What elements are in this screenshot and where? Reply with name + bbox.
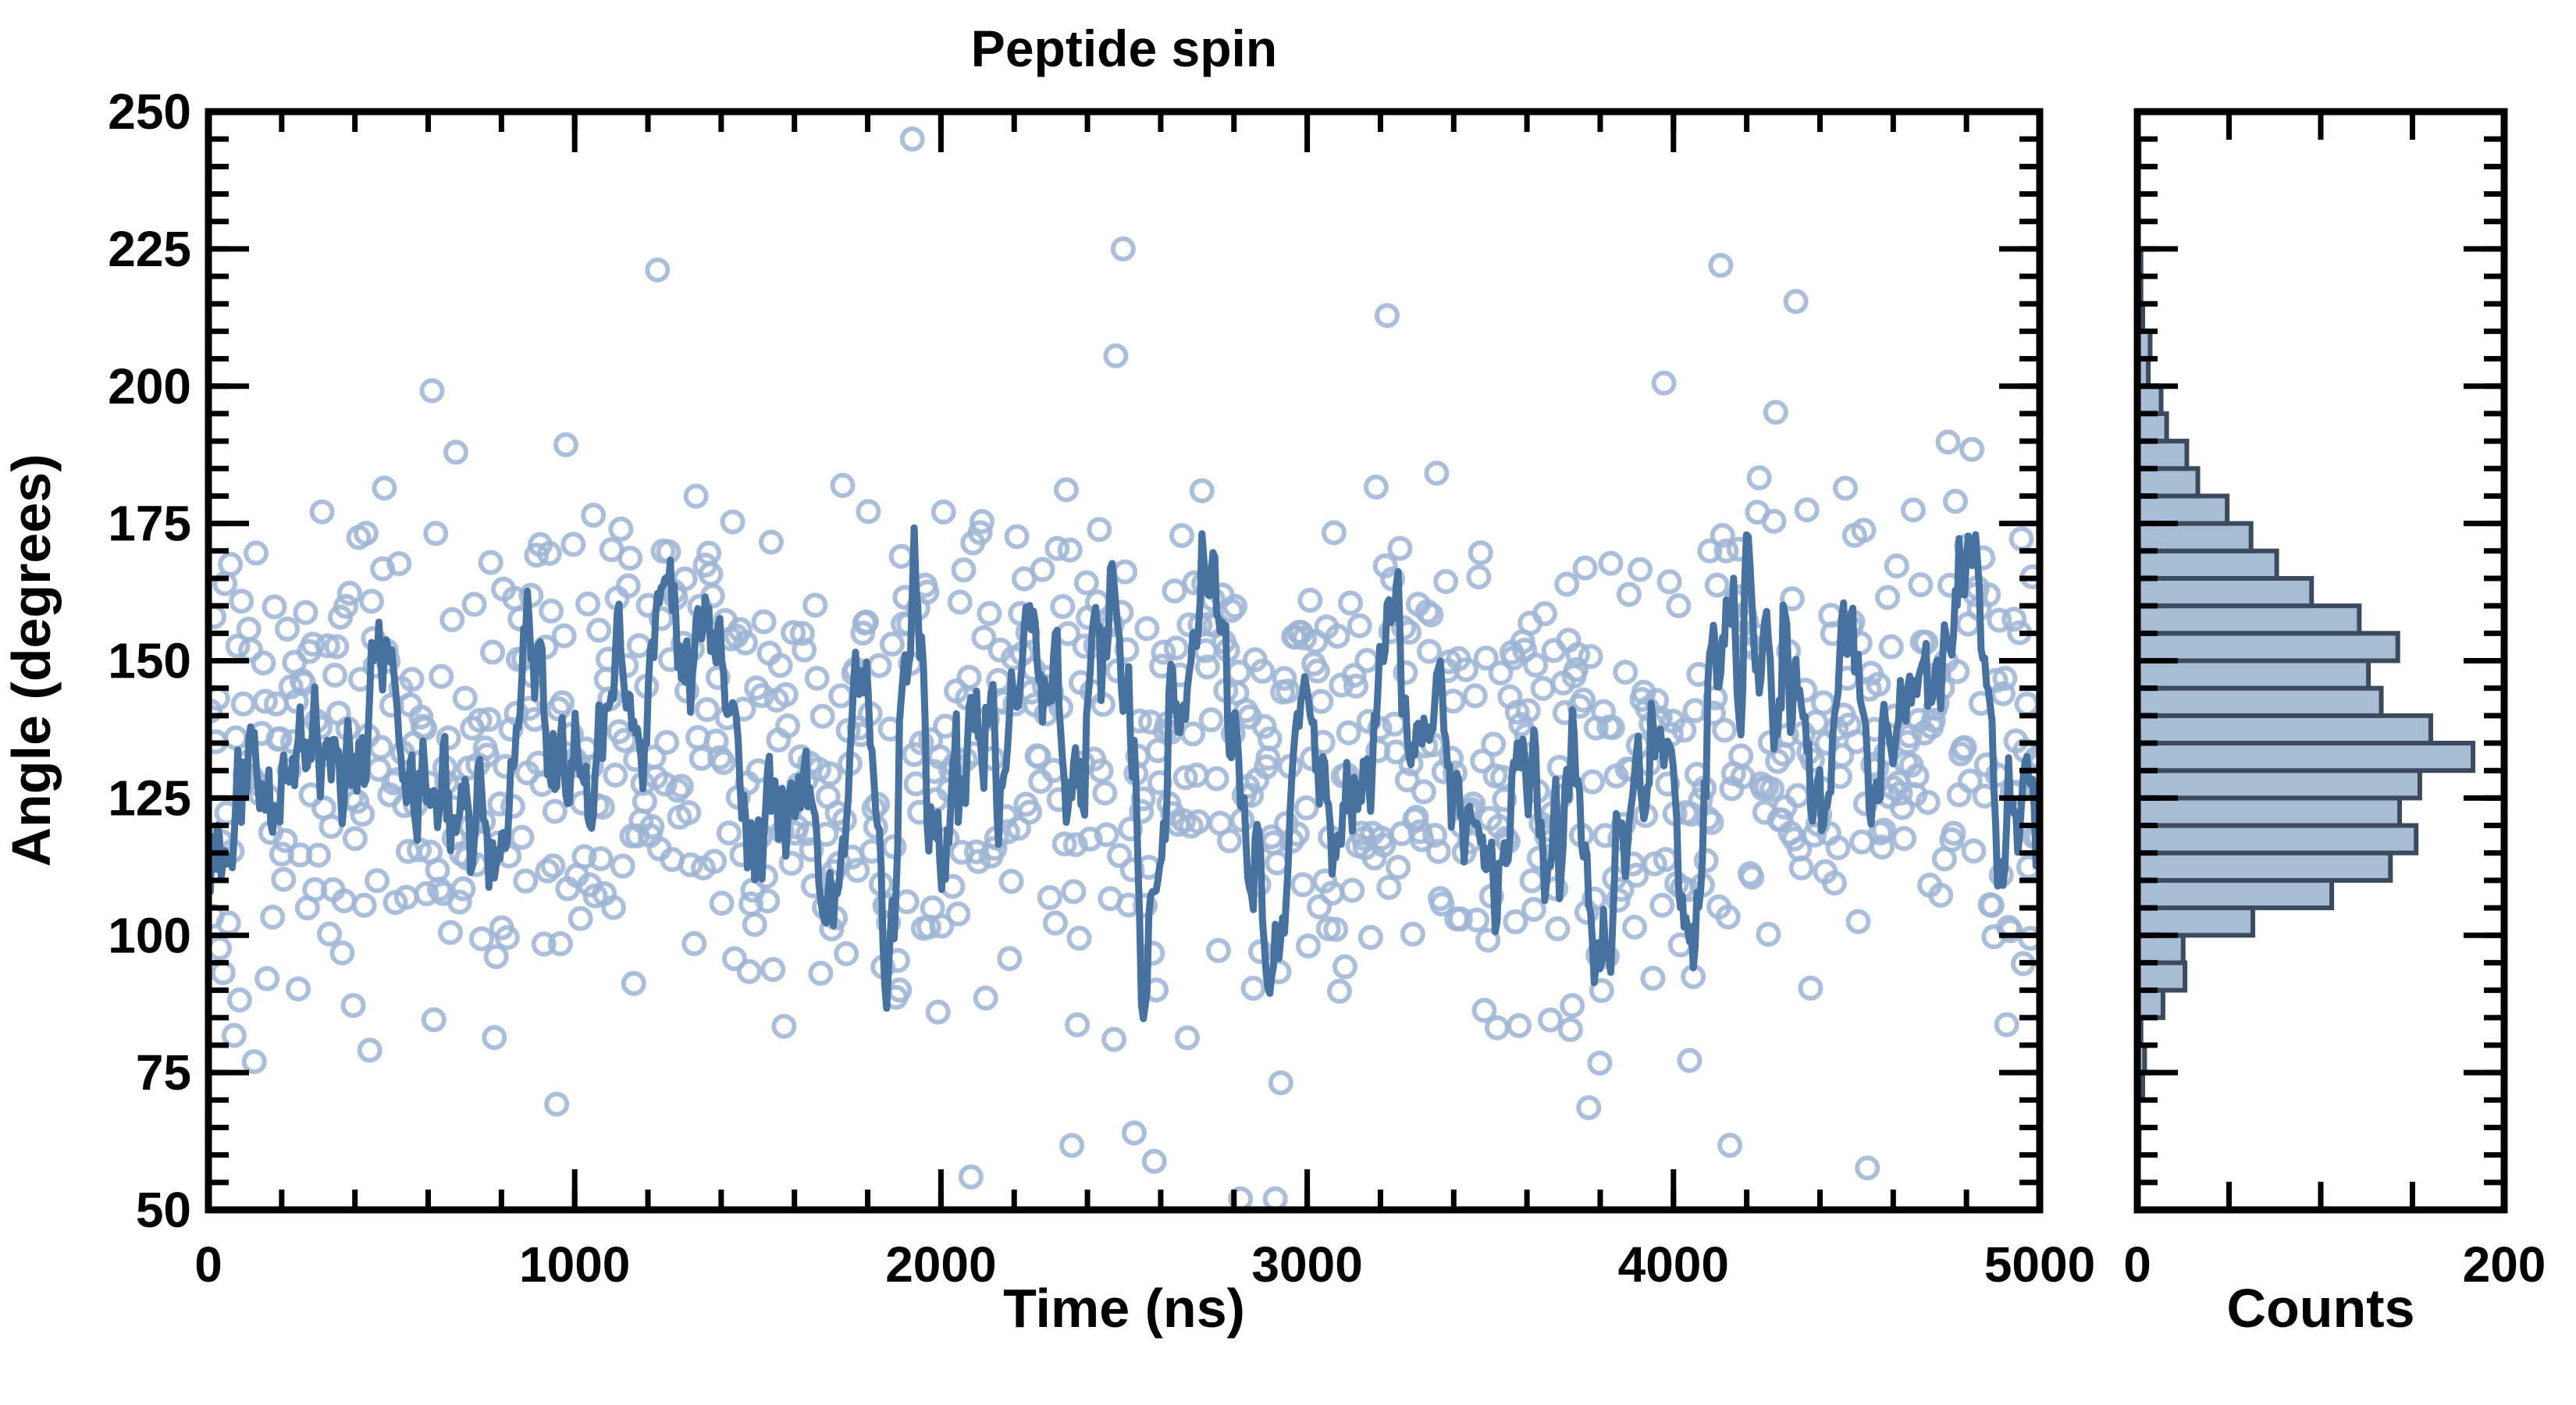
y-axis-title: Angle (degrees) <box>1 454 62 867</box>
histogram-bar <box>2137 661 2368 688</box>
histogram-bar <box>2137 962 2185 990</box>
histogram-bar <box>2137 826 2416 853</box>
histogram-x-axis-title: Counts <box>2226 1278 2414 1339</box>
histogram-bar <box>2137 496 2227 523</box>
x-tick-label: 0 <box>194 1236 222 1293</box>
y-tick-label: 225 <box>108 221 191 277</box>
x-tick-label: 5000 <box>1984 1236 2095 1293</box>
histogram-bar <box>2137 688 2382 716</box>
histogram-x-tick-label: 200 <box>2463 1236 2546 1293</box>
y-tick-label: 250 <box>108 84 191 140</box>
histogram-bar <box>2137 798 2400 825</box>
histogram-x-tick-label: 0 <box>2123 1236 2151 1293</box>
histogram-bar <box>2137 414 2167 441</box>
histogram-bar <box>2137 991 2163 1018</box>
y-tick-label: 75 <box>136 1044 191 1101</box>
y-tick-label: 50 <box>136 1182 191 1238</box>
histogram-bar <box>2137 908 2253 935</box>
y-tick-label: 125 <box>108 770 191 826</box>
histogram-bar <box>2137 578 2311 606</box>
y-tick-label: 150 <box>108 633 191 689</box>
x-tick-label: 3000 <box>1251 1236 1362 1293</box>
y-tick-label: 200 <box>108 358 191 414</box>
y-tick-label: 100 <box>108 907 191 963</box>
histogram-bar <box>2137 770 2420 798</box>
histogram-bar <box>2137 716 2431 743</box>
figure-root: Peptide spin 010002000300040005000 50751… <box>0 0 2576 1405</box>
page-title: Peptide spin <box>971 20 1277 77</box>
histogram-bar <box>2137 633 2398 660</box>
x-tick-label: 4000 <box>1618 1236 1729 1293</box>
histogram-bar <box>2137 606 2359 633</box>
x-axis-title: Time (ns) <box>1003 1278 1245 1339</box>
x-tick-label: 2000 <box>885 1236 996 1293</box>
histogram-bar <box>2137 853 2390 880</box>
histogram-bar <box>2137 551 2277 578</box>
x-tick-label: 1000 <box>519 1236 630 1293</box>
histogram-bar <box>2137 524 2251 551</box>
histogram-bar <box>2137 386 2161 414</box>
histogram-bar <box>2137 468 2198 496</box>
histogram-bar <box>2137 743 2473 770</box>
plot-canvas: Peptide spin 010002000300040005000 50751… <box>0 0 2576 1405</box>
y-tick-label: 175 <box>108 496 191 552</box>
histogram-bar <box>2137 441 2186 468</box>
histogram-bar <box>2137 935 2183 962</box>
histogram-bar <box>2137 880 2332 908</box>
